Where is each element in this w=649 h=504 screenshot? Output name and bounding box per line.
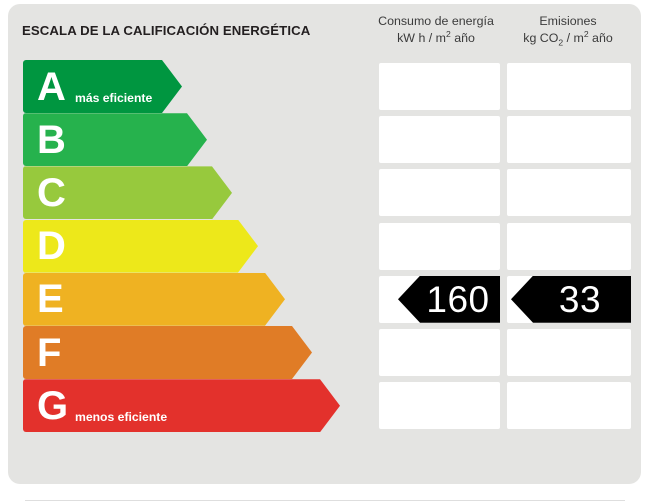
energy-band-f[interactable]: F — [23, 326, 312, 379]
band-arrow-shape — [23, 379, 340, 432]
band-letter: B — [37, 120, 65, 160]
energy-band-row: E16033 — [0, 273, 649, 326]
band-letter: A — [37, 67, 65, 107]
band-letter: D — [37, 226, 65, 266]
emisiones-cell — [507, 382, 631, 429]
energy-band-row: B — [0, 113, 649, 166]
consumo-cell — [379, 63, 500, 110]
energy-band-d[interactable]: D — [23, 220, 258, 273]
consumo-cell — [379, 169, 500, 216]
energy-band-a[interactable]: Amás eficiente — [23, 60, 182, 113]
band-letter: C — [37, 173, 65, 213]
energy-band-row: C — [0, 166, 649, 219]
consumo-cell — [379, 382, 500, 429]
emisiones-cell — [507, 223, 631, 270]
energy-band-c[interactable]: C — [23, 166, 232, 219]
consumo-cell — [379, 116, 500, 163]
energy-band-rows: Amás eficienteBCDE16033FGmenos eficiente — [0, 0, 649, 504]
energy-band-row: Amás eficiente — [0, 60, 649, 113]
emisiones-value-badge: 33 — [511, 276, 631, 323]
energy-band-e[interactable]: E — [23, 273, 285, 326]
band-letter: E — [37, 279, 63, 319]
energy-band-b[interactable]: B — [23, 113, 207, 166]
energy-band-g[interactable]: Gmenos eficiente — [23, 379, 340, 432]
band-letter: F — [37, 333, 61, 373]
energy-band-row: D — [0, 220, 649, 273]
band-arrow-shape — [23, 326, 312, 379]
bottom-divider — [25, 500, 625, 501]
consumo-value-text: 160 — [408, 281, 489, 318]
energy-band-row: Gmenos eficiente — [0, 379, 649, 432]
energy-rating-label: ESCALA DE LA CALIFICACIÓN ENERGÉTICA Con… — [0, 0, 649, 504]
consumo-cell — [379, 329, 500, 376]
band-note: más eficiente — [75, 91, 152, 105]
emisiones-cell — [507, 63, 631, 110]
emisiones-cell — [507, 116, 631, 163]
emisiones-cell — [507, 329, 631, 376]
emisiones-cell — [507, 169, 631, 216]
band-note: menos eficiente — [75, 410, 167, 424]
consumo-cell — [379, 223, 500, 270]
energy-band-row: F — [0, 326, 649, 379]
band-letter: G — [37, 386, 68, 426]
emisiones-value-text: 33 — [541, 281, 601, 318]
